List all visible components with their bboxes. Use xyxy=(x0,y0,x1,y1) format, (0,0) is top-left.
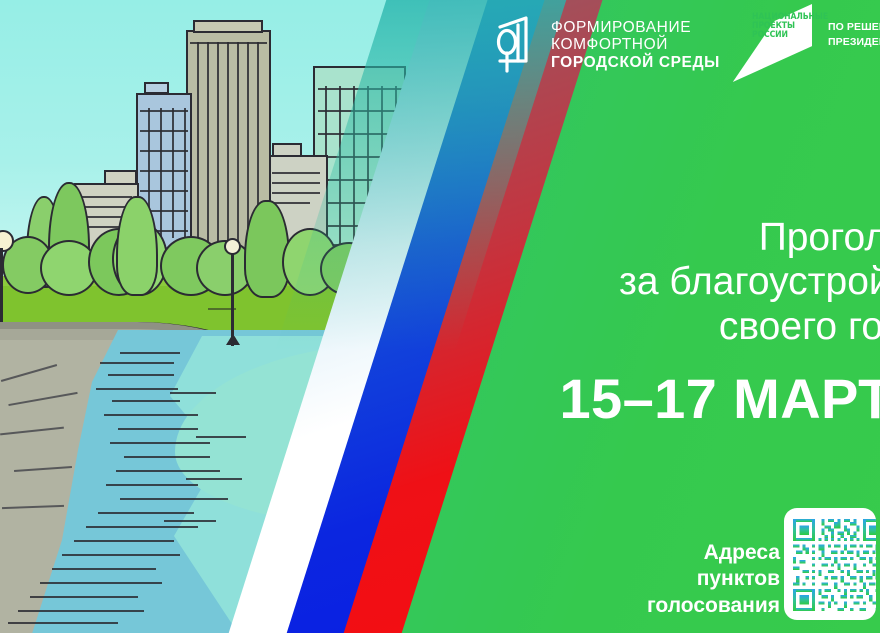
headline-line-1: Проголосуй xyxy=(450,216,880,260)
qr-code-icon[interactable] xyxy=(791,519,876,611)
national-projects-badge: НАЦИОНАЛЬНЫЕ ПРОЕКТЫ РОССИИ xyxy=(722,4,812,82)
logo-line-2: КОМФОРТНОЙ xyxy=(551,36,720,53)
logo-line-1: ФОРМИРОВАНИЕ xyxy=(551,19,720,36)
tagline-line-1: ПО РЕШЕНИЮ xyxy=(828,20,880,35)
national-projects-wordmark: НАЦИОНАЛЬНЫЕ ПРОЕКТЫ РОССИИ xyxy=(752,13,810,40)
street-lamp-pole xyxy=(231,246,234,346)
headline: Проголосуй за благоустройство своего гор… xyxy=(450,216,880,349)
headline-line-3: своего города xyxy=(450,305,880,349)
president-tagline: ПО РЕШЕНИЮ ПРЕЗИДЕНТА xyxy=(828,20,880,50)
program-logo-text: ФОРМИРОВАНИЕ КОМФОРТНОЙ ГОРОДСКОЙ СРЕДЫ xyxy=(551,19,720,71)
addresses-label: Адреса пунктов голосования xyxy=(540,540,780,619)
program-logo: ФОРМИРОВАНИЕ КОМФОРТНОЙ ГОРОДСКОЙ СРЕДЫ xyxy=(492,15,720,75)
poster-root: ФОРМИРОВАНИЕ КОМФОРТНОЙ ГОРОДСКОЙ СРЕДЫ … xyxy=(0,0,880,633)
street-lamp-head xyxy=(224,238,241,255)
doorway-monogram-icon xyxy=(492,15,538,75)
tagline-line-2: ПРЕЗИДЕНТА xyxy=(828,35,880,50)
qr-code-card[interactable] xyxy=(784,508,876,620)
logo-line-3: ГОРОДСКОЙ СРЕДЫ xyxy=(551,54,720,71)
addresses-line-2: пунктов xyxy=(540,566,780,592)
tree-cone-mid xyxy=(116,196,158,296)
addresses-line-3: голосования xyxy=(540,593,780,619)
np-line-3: РОССИИ xyxy=(752,31,810,40)
addresses-line-1: Адреса xyxy=(540,540,780,566)
headline-line-2: за благоустройство xyxy=(450,260,880,304)
voting-dates: 15–17 МАРТА xyxy=(450,366,880,431)
